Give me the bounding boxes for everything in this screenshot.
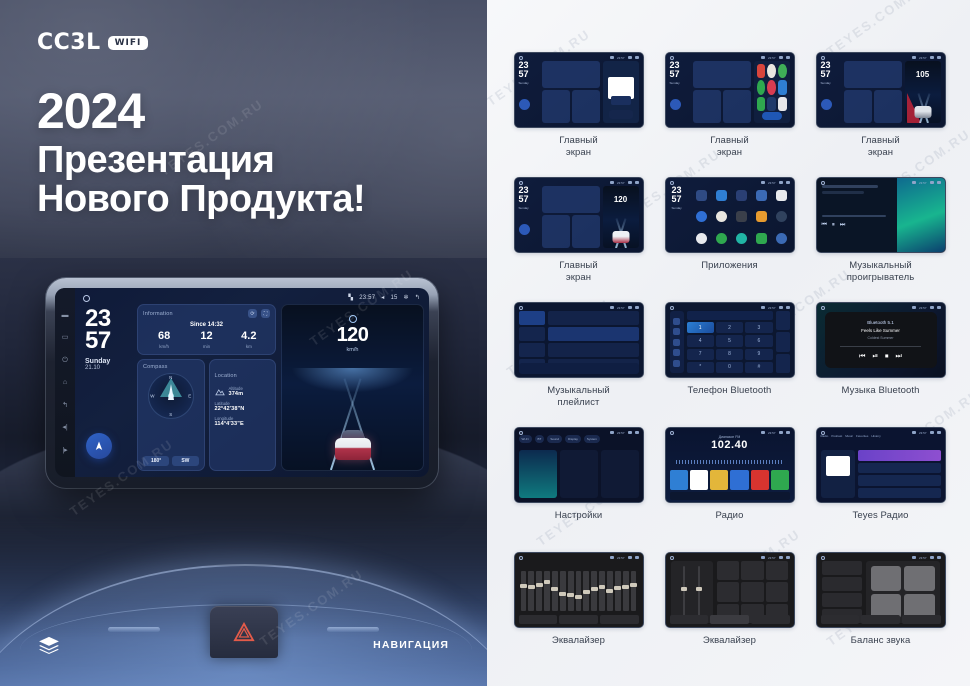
adas-speed-value: 120 xyxy=(282,325,423,345)
head-unit-bezel: ▬ ▭ ⏻ ⌂ ↰ ◂| |▸ ▚ 23:57 xyxy=(46,278,438,488)
home-left-column: 23 57 Sunday 21.10 xyxy=(80,304,276,471)
compass-label-s: S xyxy=(169,412,172,417)
logo-wifi-badge: WIFI xyxy=(108,36,149,50)
screen-content: ▚ 23:57 ◂ 15 ✲ ↰ 23 xyxy=(75,288,429,477)
thumbnail-label: Главныйэкран xyxy=(861,135,900,159)
logo-wordmark: CC3L xyxy=(37,32,101,54)
screenshot-thumbnail[interactable]: RadioPodcastMusicFavoritesHistory 23:57 xyxy=(816,427,946,503)
navigation-arrow-icon[interactable] xyxy=(86,433,112,459)
stat-time: 12 min xyxy=(185,331,227,349)
stat-time-unit: min xyxy=(185,344,227,349)
dial-key[interactable]: 5 xyxy=(716,335,743,346)
screenshot-thumbnail[interactable]: 2357Sunday 23:57 xyxy=(665,177,795,253)
left-panel-footer: НАВИГАЦИЯ xyxy=(0,636,487,654)
stop-icon[interactable]: ⏹ xyxy=(885,353,889,361)
screenshot-thumbnail[interactable]: ⏮⏸⏭ 23:57 xyxy=(816,177,946,253)
refresh-icon[interactable]: ⟳ xyxy=(248,309,257,318)
call-icon xyxy=(776,354,790,373)
gallery-grid: 2357Sunday 23:57 Главныйэкран xyxy=(507,52,952,677)
gallery-tile[interactable]: Wi-FiBTSoundDisplaySystem 23:57 Настройк… xyxy=(507,427,650,552)
thumbnail-label: Баланс звука xyxy=(851,635,911,647)
clock-weekday: Sunday xyxy=(85,358,132,365)
clock-minutes: 57 xyxy=(85,330,132,352)
screenshot-gallery-panel: TEYES.COM.RU TEYES.COM.RU TEYES.COM.RU T… xyxy=(487,0,970,686)
compass-label-n: N xyxy=(169,375,172,380)
gallery-tile[interactable]: 2357Sunday 23:57 Приложения xyxy=(658,177,801,302)
stat-speed-unit: km/h xyxy=(143,344,185,349)
compass-card[interactable]: Compass N E S xyxy=(137,359,205,471)
status-bar-right: ▚ 23:57 ◂ 15 ✲ ↰ xyxy=(348,295,424,301)
status-bar: ▚ 23:57 ◂ 15 ✲ ↰ xyxy=(80,292,424,304)
dial-key[interactable]: 3 xyxy=(745,322,772,333)
next-icon[interactable]: ⏭ xyxy=(896,353,902,361)
bt-track: Feels Like Summer xyxy=(861,328,900,333)
car-dashboard-photo: ▬ ▭ ⏻ ⌂ ↰ ◂| |▸ ▚ 23:57 xyxy=(0,258,487,686)
navigation-caption: НАВИГАЦИЯ xyxy=(373,639,449,651)
dial-key[interactable]: 8 xyxy=(716,349,743,360)
altitude-block: Altitude 374m xyxy=(229,386,244,397)
stat-speed: 68 km/h xyxy=(143,331,185,349)
screenshot-thumbnail[interactable]: 2357Sunday 23:57 xyxy=(514,52,644,128)
dial-key[interactable]: 2 xyxy=(716,322,743,333)
clock-date: 21.10 xyxy=(85,365,132,371)
information-card[interactable]: Information ⟳ ⛶ Since 14:32 68 xyxy=(137,304,276,355)
compass-rose-icon: N E S W xyxy=(148,373,194,419)
thumbnail-label: Эквалайзер xyxy=(703,635,756,647)
layers-icon[interactable] xyxy=(38,636,60,654)
gallery-tile[interactable]: 2357Sunday 23:57 Главныйэкран xyxy=(507,52,650,177)
compass-label-w: W xyxy=(150,394,154,399)
back-key[interactable]: ↰ xyxy=(62,402,68,409)
stat-distance-value: 4.2 xyxy=(228,331,270,342)
adas-car-graphic xyxy=(333,426,373,460)
gallery-tile[interactable]: Bluetooth 5.1 Feels Like Summer Coldest … xyxy=(809,302,952,427)
menu-key[interactable]: ▬ xyxy=(62,312,69,319)
transfer-icon xyxy=(776,332,790,351)
longitude-value: 114°4'33"E xyxy=(215,421,271,427)
volume-icon: ◂ xyxy=(381,295,384,301)
adas-speed-panel[interactable]: 120 km/h xyxy=(281,304,424,471)
thumbnail-label: Музыкальныйпроигрыватель xyxy=(847,260,915,284)
information-card-header: Information ⟳ ⛶ xyxy=(143,309,270,318)
clock-widget: 23 57 Sunday 21.10 xyxy=(80,304,132,471)
gallery-tile[interactable]: 23:57 Музыкальныйплейлист xyxy=(507,302,650,427)
prev-icon[interactable]: ⏮ xyxy=(859,353,865,361)
screenshot-thumbnail[interactable]: 2357Sunday xyxy=(665,52,795,128)
product-logo: CC3L WIFI xyxy=(37,32,148,54)
compass-title: Compass xyxy=(143,364,199,370)
gallery-tile[interactable]: 23:57 Эквалайзер xyxy=(658,552,801,677)
headline-year: 2024 xyxy=(37,86,365,137)
dial-key[interactable]: # xyxy=(745,362,772,373)
page-title: 2024 Презентация Нового Продукта! xyxy=(37,86,365,219)
mode-key[interactable]: ▭ xyxy=(62,334,69,341)
gallery-tile[interactable]: 23:57 Эквалайзер xyxy=(507,552,650,677)
compass-label-e: E xyxy=(188,394,191,399)
back-arrow-icon[interactable]: ↰ xyxy=(415,295,420,301)
screenshot-thumbnail[interactable]: 2357Sunday 105 23:57 xyxy=(816,52,946,128)
home-bottom-cards: Compass N E S xyxy=(137,359,276,471)
screenshot-thumbnail[interactable]: Bluetooth 5.1 Feels Like Summer Coldest … xyxy=(816,302,946,378)
thumb-speed-value: 105 xyxy=(905,70,941,79)
status-clock: 23:57 xyxy=(359,295,375,301)
left-hero-panel: CC3L WIFI 2024 Презентация Нового Продук… xyxy=(0,0,487,686)
home-screen: 23 57 Sunday 21.10 xyxy=(80,304,424,471)
head-unit-screen[interactable]: ▬ ▭ ⏻ ⌂ ↰ ◂| |▸ ▚ 23:57 xyxy=(55,288,429,477)
volume-level: 15 xyxy=(390,295,397,301)
thumbnail-label: Главныйэкран xyxy=(559,135,598,159)
dialer-keypad[interactable]: 1 2 3 4 5 6 7 8 9 * 0 # xyxy=(687,322,773,373)
compass-heading: 180° xyxy=(143,456,169,466)
stat-speed-value: 68 xyxy=(143,331,185,342)
thumbnail-label: Приложения xyxy=(701,260,758,272)
favorite-icon xyxy=(776,311,790,330)
longitude-row: Longitude 114°4'33"E xyxy=(215,416,271,427)
latitude-value: 22°42'38"N xyxy=(215,406,271,412)
side-key-strip[interactable]: ▬ ▭ ⏻ ⌂ ↰ ◂| |▸ xyxy=(55,288,75,477)
dial-key[interactable]: 0 xyxy=(716,362,743,373)
thumbnail-label: Музыкальныйплейлист xyxy=(547,385,610,409)
dial-key[interactable]: 4 xyxy=(687,335,714,346)
radio-frequency: 102.40 xyxy=(670,439,790,451)
dial-key[interactable]: 1 xyxy=(687,322,714,333)
screenshot-thumbnail[interactable]: 1 2 3 4 5 6 7 8 9 * 0 # xyxy=(665,302,795,378)
gallery-tile[interactable]: 2357Sunday xyxy=(658,52,801,177)
screenshot-thumbnail[interactable]: 2357Sunday 120 23:57 xyxy=(514,177,644,253)
screenshot-thumbnail[interactable]: 23:57 xyxy=(665,552,795,628)
balance-pad[interactable] xyxy=(866,561,940,623)
compass-needle xyxy=(168,384,174,400)
headline-line-2: Нового Продукта! xyxy=(37,180,365,219)
headline-line-1: Презентация xyxy=(37,141,365,180)
volume-down-key[interactable]: ◂| xyxy=(62,424,67,431)
dial-key[interactable]: 6 xyxy=(745,335,772,346)
home-key[interactable]: ⌂ xyxy=(63,379,67,386)
dial-key[interactable]: * xyxy=(687,362,714,373)
thumbnail-label: Главныйэкран xyxy=(710,135,749,159)
gallery-tile[interactable]: 1 2 3 4 5 6 7 8 9 * 0 # xyxy=(658,302,801,427)
bt-artist: Coldest Summer xyxy=(867,336,893,340)
bluetooth-badge: Bluetooth 5.1 xyxy=(867,320,894,325)
screenshot-thumbnail[interactable]: 23:57 xyxy=(514,302,644,378)
compass-direction: SW xyxy=(172,456,198,466)
thumbnail-label: Teyes Радио xyxy=(853,510,909,522)
stat-distance-unit: km xyxy=(228,344,270,349)
location-card[interactable]: Location Altitude 374m xyxy=(209,359,277,471)
watermark: TEYES.COM.RU xyxy=(824,0,933,59)
speed-gauge-icon xyxy=(349,315,357,323)
information-title: Information xyxy=(143,311,173,317)
gallery-tile[interactable]: Диапазон FM 102.40 23:57 Радио xyxy=(658,427,801,552)
screenshot-thumbnail[interactable]: Диапазон FM 102.40 23:57 xyxy=(665,427,795,503)
thumbnail-label: Радио xyxy=(716,510,744,522)
thumbnail-label: Телефон Bluetooth xyxy=(688,385,772,397)
mountain-icon xyxy=(215,388,225,396)
home-cards-column: Information ⟳ ⛶ Since 14:32 68 xyxy=(137,304,276,471)
car-body xyxy=(335,438,371,460)
play-pause-icon[interactable]: ⏯ xyxy=(872,353,878,361)
adas-speed-unit: km/h xyxy=(282,347,423,353)
gallery-tile[interactable]: RadioPodcastMusicFavoritesHistory 23:57 … xyxy=(809,427,952,552)
wifi-icon: ▚ xyxy=(348,295,353,301)
gallery-tile[interactable]: 23:57 Баланс звука xyxy=(809,552,952,677)
thumbnail-label: Настройки xyxy=(555,510,602,522)
thumb-speed-value: 120 xyxy=(603,195,639,204)
altitude-value: 374m xyxy=(229,391,244,397)
dial-key[interactable]: 7 xyxy=(687,349,714,360)
equalizer-bands[interactable] xyxy=(521,571,637,611)
screenshot-thumbnail[interactable]: Wi-FiBTSoundDisplaySystem 23:57 xyxy=(514,427,644,503)
volume-up-key[interactable]: |▸ xyxy=(62,447,67,454)
screenshot-thumbnail[interactable]: 23:57 xyxy=(816,552,946,628)
power-key[interactable]: ⏻ xyxy=(62,357,68,364)
compass-readout: 180° SW xyxy=(143,456,199,466)
air-vent-left xyxy=(108,627,160,632)
gear-icon[interactable]: ✲ xyxy=(404,295,409,301)
adas-speed-block: 120 km/h xyxy=(282,315,423,353)
thumbnail-label: Эквалайзер xyxy=(552,635,605,647)
altitude-row: Altitude 374m xyxy=(215,386,271,397)
gallery-tile[interactable]: 2357Sunday 105 23:57 xyxy=(809,52,952,177)
expand-icon[interactable]: ⛶ xyxy=(261,309,270,318)
home-icon[interactable] xyxy=(83,295,90,302)
presentation-slide: CC3L WIFI 2024 Презентация Нового Продук… xyxy=(0,0,970,686)
information-since: Since 14:32 xyxy=(143,322,270,328)
dial-key[interactable]: 9 xyxy=(745,349,772,360)
gallery-tile[interactable]: 2357Sunday 120 23:57 Главныйэкран xyxy=(507,177,650,302)
latitude-row: Latitude 22°42'38"N xyxy=(215,401,271,412)
screenshot-thumbnail[interactable]: 23:57 xyxy=(514,552,644,628)
location-title: Location xyxy=(215,373,237,379)
information-stats: 68 km/h 12 min xyxy=(143,331,270,349)
air-vent-right xyxy=(327,627,379,632)
gallery-tile[interactable]: ⏮⏸⏭ 23:57 Музыкальныйпроигрыватель xyxy=(809,177,952,302)
stat-distance: 4.2 km xyxy=(228,331,270,349)
thumbnail-label: Главныйэкран xyxy=(559,260,598,284)
stat-time-value: 12 xyxy=(185,331,227,342)
thumbnail-label: Музыка Bluetooth xyxy=(842,385,920,397)
